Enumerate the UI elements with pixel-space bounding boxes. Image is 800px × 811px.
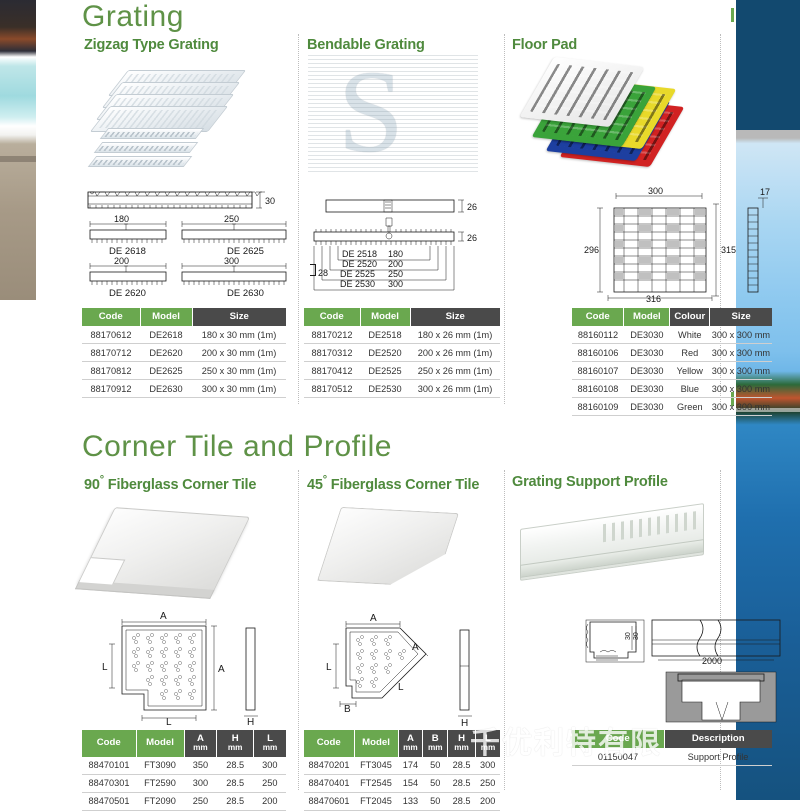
cell-model: FT3090 xyxy=(136,757,184,775)
cell-code: 88470201 xyxy=(304,757,354,775)
zigzag-grating-dimension-drawing: 30 180 DE 2618 250 DE 2625 xyxy=(84,186,294,298)
table-row: 88170312 DE2520 200 x 26 mm (1m) xyxy=(304,344,500,362)
cell-b: 50 xyxy=(423,774,448,792)
cell-code: 88470401 xyxy=(304,774,354,792)
cell-size: 200 x 30 mm (1m) xyxy=(192,344,286,362)
table-header-row: Code Model Size xyxy=(82,308,286,326)
section-title-grating: Grating xyxy=(82,2,184,32)
svg-text:30: 30 xyxy=(633,632,640,640)
subtitle-text-90: Fiberglass Corner Tile xyxy=(108,477,256,493)
svg-text:200: 200 xyxy=(388,259,403,269)
svg-text:L: L xyxy=(166,717,172,726)
cell-h: 28.5 xyxy=(217,757,254,775)
cell-b: 50 xyxy=(423,757,448,775)
cell-code: 88470601 xyxy=(304,792,354,810)
table-row: 88470101 FT3090 350 28.5 300 xyxy=(82,757,286,775)
cell-h: 28.5 xyxy=(448,792,476,810)
dim-label-30-zigzag: 30 xyxy=(265,196,275,206)
cell-model: DE2530 xyxy=(360,380,410,398)
bendable-grating-s-shape-photo: S xyxy=(308,54,478,172)
svg-text:26: 26 xyxy=(467,202,477,212)
svg-text:DE 2525: DE 2525 xyxy=(340,269,375,279)
svg-text:17: 17 xyxy=(760,187,770,197)
svg-text:316: 316 xyxy=(646,294,661,302)
cell-colour: Yellow xyxy=(670,362,710,380)
svg-text:296: 296 xyxy=(584,245,599,255)
cell-code: 88170912 xyxy=(82,380,140,398)
table-row: 88170812 DE2625 250 x 30 mm (1m) xyxy=(82,362,286,380)
cell-model: DE2618 xyxy=(140,326,192,344)
subtitle-90-fiberglass-corner-tile: 90° Fiberglass Corner Tile xyxy=(84,474,256,493)
cell-h: 28.5 xyxy=(217,792,254,810)
cell-size: 180 x 30 mm (1m) xyxy=(192,326,286,344)
cell-l: 250 xyxy=(475,774,500,792)
cell-code: 88170312 xyxy=(304,344,360,362)
th-size: Size xyxy=(192,308,286,326)
svg-text:200: 200 xyxy=(114,256,129,266)
table-row: 88160107 DE3030 Yellow 300 x 300 mm xyxy=(572,362,772,380)
th-l-unit: mm xyxy=(256,744,284,753)
support-profile-spec-table: Code Description 01150047 Support Profil… xyxy=(572,730,772,766)
cell-model: DE2620 xyxy=(140,344,192,362)
cell-size: 300 x 300 mm xyxy=(710,326,772,344)
cell-code: 88170212 xyxy=(304,326,360,344)
th-code: Code xyxy=(304,308,360,326)
cell-size: 180 x 26 mm (1m) xyxy=(410,326,500,344)
th-code: Code xyxy=(572,308,624,326)
th-h-unit: mm xyxy=(219,744,251,753)
th-h: H mm xyxy=(448,730,476,757)
th-model: Model xyxy=(354,730,398,757)
svg-text:180: 180 xyxy=(114,214,129,224)
svg-text:180: 180 xyxy=(388,249,403,259)
corner-tile-90-spec-table: Code Model A mm H mm L mm xyxy=(82,730,286,811)
corner-tile-45-spec-table: Code Model A mm B mm H mm L xyxy=(304,730,500,811)
cell-colour: Blue xyxy=(670,380,710,398)
svg-text:315: 315 xyxy=(721,245,736,255)
cell-model: DE3030 xyxy=(624,326,670,344)
support-profile-dimension-drawing: 30 30 2000 xyxy=(578,614,784,726)
cell-model: DE2520 xyxy=(360,344,410,362)
cell-model: DE2525 xyxy=(360,362,410,380)
table-row: 88170212 DE2518 180 x 26 mm (1m) xyxy=(304,326,500,344)
table-row: 88470601 FT2045 133 50 28.5 200 xyxy=(304,792,500,810)
cell-code: 88170612 xyxy=(82,326,140,344)
cell-model: DE3030 xyxy=(624,398,670,416)
cell-code: 88470301 xyxy=(82,774,136,792)
table-row: 88170412 DE2525 250 x 26 mm (1m) xyxy=(304,362,500,380)
svg-text:300: 300 xyxy=(388,279,403,289)
th-h: H mm xyxy=(217,730,254,757)
cell-model: DE2630 xyxy=(140,380,192,398)
cell-size: 300 x 300 mm xyxy=(710,398,772,416)
bendable-grating-spec-table: Code Model Size 88170212 DE2518 180 x 26… xyxy=(304,308,500,398)
cell-l: 300 xyxy=(475,757,500,775)
cell-l: 200 xyxy=(475,792,500,810)
th-code: Code xyxy=(572,730,664,748)
column-separator-1 xyxy=(298,34,299,404)
th-h-unit: mm xyxy=(450,744,473,753)
subtitle-angle-45: 45 xyxy=(307,477,323,493)
cell-model: FT2045 xyxy=(354,792,398,810)
th-code: Code xyxy=(82,308,140,326)
cell-size: 200 x 26 mm (1m) xyxy=(410,344,500,362)
column-separator-2 xyxy=(504,34,505,404)
th-model: Model xyxy=(136,730,184,757)
svg-text:H: H xyxy=(247,717,254,726)
table-header-row: Code Description xyxy=(572,730,772,748)
svg-text:B: B xyxy=(344,704,351,715)
th-a-unit: mm xyxy=(187,744,215,753)
table-header-row: Code Model Size xyxy=(304,308,500,326)
cell-a: 250 xyxy=(184,792,217,810)
floor-pad-spec-table: Code Model Colour Size 88160112 DE3030 W… xyxy=(572,308,772,416)
table-header-row: Code Model Colour Size xyxy=(572,308,772,326)
cell-model: FT2545 xyxy=(354,774,398,792)
left-white-strip xyxy=(36,0,60,300)
th-size: Size xyxy=(710,308,772,326)
cell-h: 28.5 xyxy=(448,757,476,775)
cell-size: 300 x 30 mm (1m) xyxy=(192,380,286,398)
svg-text:L: L xyxy=(326,662,332,673)
cell-a: 133 xyxy=(398,792,423,810)
svg-text:30: 30 xyxy=(625,632,632,640)
section-title-corner-tile-and-profile: Corner Tile and Profile xyxy=(82,432,392,462)
cell-b: 50 xyxy=(423,792,448,810)
table-header-row: Code Model A mm H mm L mm xyxy=(82,730,286,757)
table-row: 88160108 DE3030 Blue 300 x 300 mm xyxy=(572,380,772,398)
cell-size: 300 x 26 mm (1m) xyxy=(410,380,500,398)
table-row: 88470501 FT2090 250 28.5 200 xyxy=(82,792,286,810)
table-row: 88170612 DE2618 180 x 30 mm (1m) xyxy=(82,326,286,344)
cell-h: 28.5 xyxy=(217,774,254,792)
cell-code: 88170412 xyxy=(304,362,360,380)
column-separator-5 xyxy=(504,470,505,790)
cell-l: 300 xyxy=(254,757,286,775)
th-model: Model xyxy=(624,308,670,326)
floor-pad-colour-stack-photo xyxy=(512,56,712,174)
th-code: Code xyxy=(82,730,136,757)
cell-a: 300 xyxy=(184,774,217,792)
subtitle-text-45: Fiberglass Corner Tile xyxy=(331,477,479,493)
corner-tile-45-dimension-drawing: A L A xyxy=(312,608,494,728)
table-row: 88160106 DE3030 Red 300 x 300 mm xyxy=(572,344,772,362)
subtitle-45-fiberglass-corner-tile: 45° Fiberglass Corner Tile xyxy=(307,474,479,493)
cell-size: 300 x 300 mm xyxy=(710,344,772,362)
content-area: Grating Zigzag Type Grating Bendable Gra… xyxy=(60,0,732,800)
subtitle-floor-pad: Floor Pad xyxy=(512,37,577,53)
cell-h: 28.5 xyxy=(448,774,476,792)
table-row: 01150047 Support Profile xyxy=(572,748,772,766)
catalog-page: Grating Zigzag Type Grating Bendable Gra… xyxy=(0,0,800,800)
cell-model: DE3030 xyxy=(624,344,670,362)
table-row: 88170712 DE2620 200 x 30 mm (1m) xyxy=(82,344,286,362)
cell-model: FT2090 xyxy=(136,792,184,810)
svg-text:A: A xyxy=(218,664,225,675)
cell-model: DE3030 xyxy=(624,362,670,380)
th-l: L mm xyxy=(254,730,286,757)
pool-photo-left-edge xyxy=(0,0,36,300)
subtitle-angle-90: 90 xyxy=(84,477,100,493)
th-size: Size xyxy=(410,308,500,326)
th-b-unit: mm xyxy=(425,744,445,753)
svg-text:H: H xyxy=(461,718,468,728)
cell-model: DE2625 xyxy=(140,362,192,380)
cell-colour: Green xyxy=(670,398,710,416)
cell-a: 350 xyxy=(184,757,217,775)
svg-text:300: 300 xyxy=(648,186,663,196)
svg-text:26: 26 xyxy=(467,233,477,243)
cell-code: 88470501 xyxy=(82,792,136,810)
table-row: 88170912 DE2630 300 x 30 mm (1m) xyxy=(82,380,286,398)
th-l: L mm xyxy=(475,730,500,757)
cell-code: 88160112 xyxy=(572,326,624,344)
column-separator-4 xyxy=(298,470,299,790)
45-degree-corner-tile-photo xyxy=(310,498,470,603)
svg-text:L: L xyxy=(398,682,404,693)
th-a: A mm xyxy=(398,730,423,757)
svg-text:250: 250 xyxy=(388,269,403,279)
table-row: 88160112 DE3030 White 300 x 300 mm xyxy=(572,326,772,344)
svg-text:DE 2630: DE 2630 xyxy=(227,288,264,298)
table-row: 88160109 DE3030 Green 300 x 300 mm xyxy=(572,398,772,416)
svg-text:2000: 2000 xyxy=(702,656,722,666)
subtitle-zigzag-type-grating: Zigzag Type Grating xyxy=(84,37,219,53)
svg-text:DE 2518: DE 2518 xyxy=(342,249,377,259)
svg-text:250: 250 xyxy=(224,214,239,224)
table-row: 88470401 FT2545 154 50 28.5 250 xyxy=(304,774,500,792)
blue-band-right-edge xyxy=(736,0,800,130)
table-row: 88470201 FT3045 174 50 28.5 300 xyxy=(304,757,500,775)
th-a: A mm xyxy=(184,730,217,757)
svg-text:DE 2620: DE 2620 xyxy=(109,288,146,298)
cell-model: DE2518 xyxy=(360,326,410,344)
svg-text:A: A xyxy=(370,613,377,624)
cell-code: 01150047 xyxy=(572,748,664,766)
cell-code: 88470101 xyxy=(82,757,136,775)
cell-size: 250 x 30 mm (1m) xyxy=(192,362,286,380)
cell-description: Support Profile xyxy=(664,748,772,766)
cell-a: 174 xyxy=(398,757,423,775)
th-description: Description xyxy=(664,730,772,748)
grating-support-profile-photo xyxy=(512,496,712,596)
cell-model: FT3045 xyxy=(354,757,398,775)
th-colour: Colour xyxy=(670,308,710,326)
cell-size: 250 x 26 mm (1m) xyxy=(410,362,500,380)
cell-code: 88160109 xyxy=(572,398,624,416)
svg-text:A: A xyxy=(160,611,167,622)
degree-symbol-45: ° xyxy=(323,474,327,486)
cell-code: 88160106 xyxy=(572,344,624,362)
th-model: Model xyxy=(140,308,192,326)
th-b: B mm xyxy=(423,730,448,757)
svg-text:300: 300 xyxy=(224,256,239,266)
zigzag-grating-spec-table: Code Model Size 88170612 DE2618 180 x 30… xyxy=(82,308,286,398)
table-row: 88470301 FT2590 300 28.5 250 xyxy=(82,774,286,792)
svg-text:DE 2530: DE 2530 xyxy=(340,279,375,289)
cell-code: 88170512 xyxy=(304,380,360,398)
cell-colour: White xyxy=(670,326,710,344)
cell-size: 300 x 300 mm xyxy=(710,362,772,380)
bendable-grating-dimension-drawing: 26 26 DE 2518 DE 2520 DE 2525 DE 2530 xyxy=(312,196,502,300)
cell-code: 88160107 xyxy=(572,362,624,380)
cell-code: 88170712 xyxy=(82,344,140,362)
subtitle-grating-support-profile: Grating Support Profile xyxy=(512,474,668,490)
th-a-unit: mm xyxy=(401,744,421,753)
cell-code: 88160108 xyxy=(572,380,624,398)
table-header-row: Code Model A mm B mm H mm L xyxy=(304,730,500,757)
cell-model: DE3030 xyxy=(624,380,670,398)
cell-l: 200 xyxy=(254,792,286,810)
th-code: Code xyxy=(304,730,354,757)
th-l-unit: mm xyxy=(478,744,498,753)
th-model: Model xyxy=(360,308,410,326)
degree-symbol-90: ° xyxy=(100,474,104,486)
table-row: 88170512 DE2530 300 x 26 mm (1m) xyxy=(304,380,500,398)
svg-text:L: L xyxy=(102,662,108,673)
zigzag-grating-stack-photo xyxy=(88,60,268,175)
90-degree-corner-tile-photo xyxy=(88,498,248,603)
cell-colour: Red xyxy=(670,344,710,362)
floor-pad-dimension-drawing: 300 296 31 xyxy=(582,182,778,302)
cell-size: 300 x 300 mm xyxy=(710,380,772,398)
corner-tile-90-dimension-drawing: A xyxy=(94,604,280,726)
cell-a: 154 xyxy=(398,774,423,792)
cell-model: FT2590 xyxy=(136,774,184,792)
cell-l: 250 xyxy=(254,774,286,792)
svg-text:DE 2520: DE 2520 xyxy=(342,259,377,269)
cell-code: 88170812 xyxy=(82,362,140,380)
